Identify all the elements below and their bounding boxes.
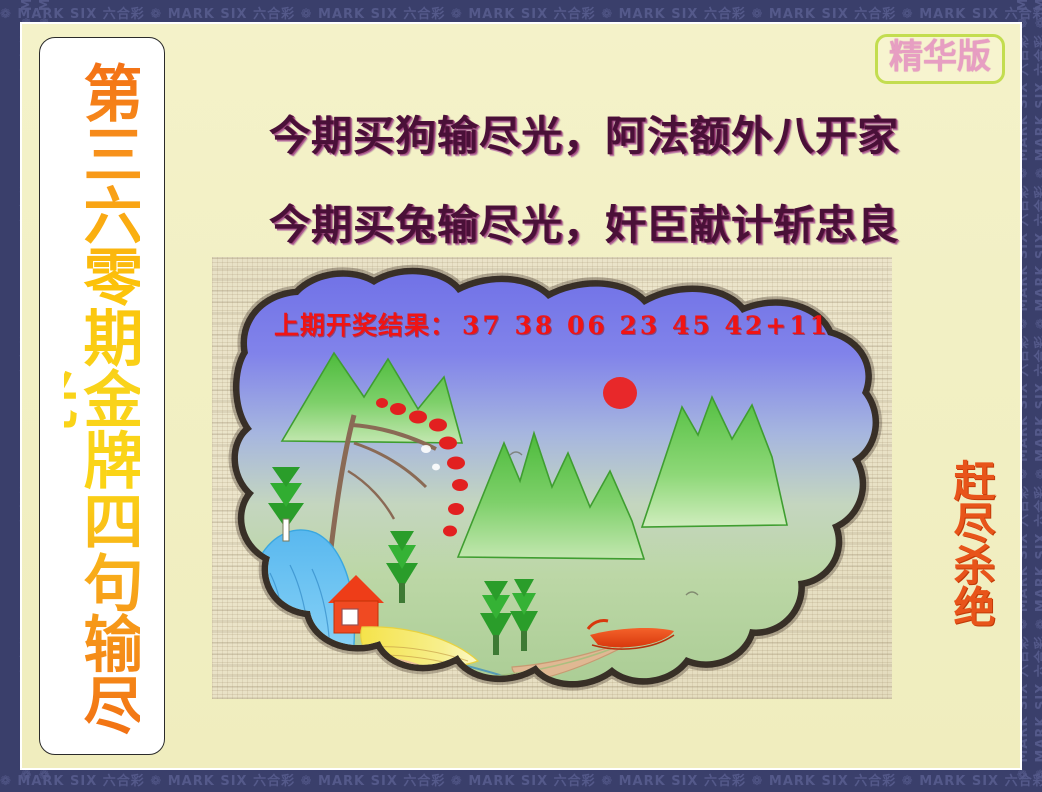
previous-draw-result: 上期开奖结果：37 38 06 23 45 42+11 [212, 306, 892, 342]
red-sun-icon [603, 377, 637, 409]
status-badge: 精华版 [875, 34, 1005, 84]
slogan-vertical: 赶尽杀绝 [927, 459, 993, 627]
poster-frame: ❁ MARK SIX 六合彩 ❁ MARK SIX 六合彩 ❁ MARK SIX… [0, 0, 1042, 792]
shore-rock [838, 618, 864, 632]
result-numbers: 37 38 06 23 45 42+11 [456, 311, 830, 340]
watermark-band-top: ❁ MARK SIX 六合彩 ❁ MARK SIX 六合彩 ❁ MARK SIX… [0, 3, 1042, 22]
vertical-title-box: 第三六零期金牌四句输尽光 [39, 37, 165, 755]
poster-card: 第三六零期金牌四句输尽光 精华版 今期买狗输尽光，阿法额外八开家 今期买兔输尽光… [20, 22, 1022, 770]
headline-line-2: 今期买兔输尽光，奸臣献计斩忠良 [254, 191, 914, 251]
result-label: 上期开奖结果： [274, 311, 456, 340]
illustration: 上期开奖结果：37 38 06 23 45 42+11 [212, 257, 892, 699]
headline-line-1: 今期买狗输尽光，阿法额外八开家 [254, 102, 914, 162]
page-title: 第三六零期金牌四句输尽光 [64, 41, 140, 755]
watermark-band-right-inner: ❁ MARK SIX 六合彩 ❁ MARK SIX 六合彩 ❁ MARK SIX… [1030, 0, 1042, 780]
watermark-band-bottom: ❁ MARK SIX 六合彩 ❁ MARK SIX 六合彩 ❁ MARK SIX… [0, 770, 1042, 789]
